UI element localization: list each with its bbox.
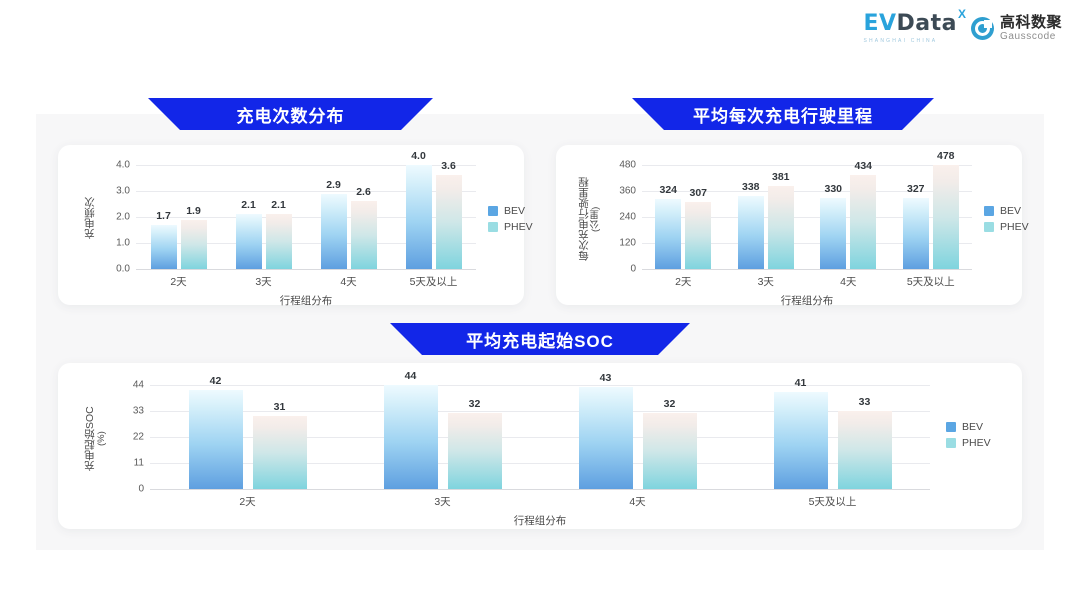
bar-phev[interactable]: 434 [850, 175, 876, 269]
bar-group: 41335天及以上 [735, 385, 930, 489]
bar-value-label: 31 [274, 401, 286, 413]
evdata-wordmark: EVData [863, 13, 957, 35]
legend-item-phev[interactable]: PHEV [984, 221, 1029, 233]
gausscode-logo: 高科数聚 Gausscode [971, 15, 1062, 42]
y-axis-tick: 0 [630, 264, 636, 275]
x-axis-tick: 3天 [434, 494, 450, 509]
bar-phev[interactable]: 31 [253, 416, 307, 489]
legend-label: BEV [962, 421, 983, 433]
bar-pair: 2.92.6 [321, 165, 377, 269]
y-axis-tick: 22 [133, 432, 144, 443]
bar-group: 3243072天 [642, 165, 725, 269]
chart-start-soc: 充电起始SOC(%)01122334442312天44323天43324天413… [58, 363, 1022, 529]
bar-bev[interactable]: 4.0 [406, 165, 432, 269]
x-axis-tick: 5天及以上 [907, 274, 955, 289]
bar-value-label: 478 [937, 150, 955, 162]
gausscode-wordmark: 高科数聚 Gausscode [1000, 15, 1062, 42]
gridline [642, 269, 972, 270]
evdata-logo: EVData X SHANGHAI CHINA [863, 13, 957, 44]
y-axis-unit: (公里) [590, 206, 601, 231]
bar-group: 3304344天 [807, 165, 890, 269]
page-header: EVData X SHANGHAI CHINA 高科数聚 Gausscode [0, 0, 1080, 62]
x-axis-tick: 2天 [675, 274, 691, 289]
x-axis-label: 行程组分布 [150, 513, 930, 528]
plot-area: 0.01.02.03.04.01.71.92天2.12.13天2.92.64天4… [136, 165, 476, 269]
bar-value-label: 434 [854, 160, 872, 172]
bar-value-label: 1.9 [186, 205, 201, 217]
bar-value-label: 2.6 [356, 186, 371, 198]
bar-phev[interactable]: 32 [448, 413, 502, 489]
bar-phev[interactable]: 33 [838, 411, 892, 489]
bar-group: 3383813天 [725, 165, 808, 269]
bar-group: 1.71.92天 [136, 165, 221, 269]
legend-swatch-icon [946, 422, 956, 432]
chart-charging-frequency: 充电频次0.01.02.03.04.01.71.92天2.12.13天2.92.… [58, 145, 524, 305]
legend-item-bev[interactable]: BEV [488, 205, 533, 217]
x-axis-tick: 5天及以上 [809, 494, 857, 509]
x-axis-tick: 2天 [170, 274, 186, 289]
bar-value-label: 4.0 [411, 150, 426, 162]
y-axis-unit: (%) [96, 432, 107, 447]
bar-bev[interactable]: 43 [579, 387, 633, 489]
legend-swatch-icon [488, 222, 498, 232]
x-axis-tick: 4天 [629, 494, 645, 509]
bar-value-label: 32 [469, 398, 481, 410]
bar-bev[interactable]: 2.9 [321, 194, 347, 269]
bar-group: 44323天 [345, 385, 540, 489]
bar-pair: 4.03.6 [406, 165, 462, 269]
legend-item-phev[interactable]: PHEV [946, 437, 991, 449]
bar-pair: 324307 [655, 165, 711, 269]
x-axis-tick: 3天 [758, 274, 774, 289]
gausscode-name-cn: 高科数聚 [1000, 15, 1062, 30]
bar-value-label: 41 [795, 377, 807, 389]
plot-area: 01202403604803243072天3383813天3304344天327… [642, 165, 972, 269]
bar-phev[interactable]: 3.6 [436, 175, 462, 269]
bar-group: 2.92.64天 [306, 165, 391, 269]
legend-label: PHEV [504, 221, 533, 233]
bar-group: 42312天 [150, 385, 345, 489]
bar-pair: 330434 [820, 165, 876, 269]
y-axis-tick: 120 [619, 238, 636, 249]
bar-value-label: 330 [824, 183, 842, 195]
bar-value-label: 2.9 [326, 179, 341, 191]
bar-pair: 4231 [189, 385, 307, 489]
x-axis-label: 行程组分布 [136, 293, 476, 308]
chart-card-charging-frequency: 充电频次0.01.02.03.04.01.71.92天2.12.13天2.92.… [58, 145, 524, 305]
chart-card-range-per-charge: 每次充电行驶里程(公里)01202403604803243072天3383813… [556, 145, 1022, 305]
bar-value-label: 33 [859, 396, 871, 408]
y-axis-tick: 33 [133, 406, 144, 417]
gridline [150, 489, 930, 490]
bar-phev[interactable]: 1.9 [181, 220, 207, 269]
x-axis-tick: 2天 [239, 494, 255, 509]
bar-pair: 2.12.1 [236, 165, 292, 269]
legend-item-bev[interactable]: BEV [946, 421, 991, 433]
y-axis-tick: 1.0 [116, 238, 130, 249]
bar-value-label: 1.7 [156, 210, 171, 222]
evdata-suffix: Data [897, 11, 957, 36]
bar-bev[interactable]: 2.1 [236, 214, 262, 269]
bar-pair: 4332 [579, 385, 697, 489]
bar-groups: 1.71.92天2.12.13天2.92.64天4.03.65天及以上 [136, 165, 476, 269]
evdata-prefix: EV [863, 11, 896, 36]
evdata-subtitle: SHANGHAI CHINA [863, 38, 937, 44]
legend-item-phev[interactable]: PHEV [488, 221, 533, 233]
bar-pair: 4133 [774, 385, 892, 489]
y-axis-label: 充电频次 [84, 173, 96, 263]
bar-phev[interactable]: 381 [768, 186, 794, 269]
bar-group: 2.12.13天 [221, 165, 306, 269]
bar-value-label: 338 [742, 181, 760, 193]
y-axis-tick: 4.0 [116, 160, 130, 171]
bar-pair: 4432 [384, 385, 502, 489]
bar-phev[interactable]: 2.6 [351, 201, 377, 269]
bar-group: 3274785天及以上 [890, 165, 973, 269]
y-axis-label: 充电起始SOC(%) [84, 389, 108, 489]
x-axis-tick: 3天 [255, 274, 271, 289]
y-axis-tick: 0.0 [116, 264, 130, 275]
x-axis-tick: 5天及以上 [410, 274, 458, 289]
bar-bev[interactable]: 44 [384, 385, 438, 489]
gridline [136, 269, 476, 270]
y-axis-tick: 0 [138, 484, 144, 495]
bar-value-label: 42 [210, 375, 222, 387]
bar-phev[interactable]: 2.1 [266, 214, 292, 269]
bar-phev[interactable]: 307 [685, 202, 711, 269]
chart-title-banner-range-per-charge: 平均每次充电行驶里程 [632, 98, 934, 130]
bar-bev[interactable]: 330 [820, 198, 846, 270]
chart-legend: BEVPHEV [488, 205, 533, 233]
x-axis-label: 行程组分布 [642, 293, 972, 308]
bar-groups: 42312天44323天43324天41335天及以上 [150, 385, 930, 489]
bar-value-label: 44 [405, 370, 417, 382]
bar-value-label: 324 [659, 184, 677, 196]
chart-title-banner-start-soc: 平均充电起始SOC [390, 323, 690, 355]
chart-legend: BEVPHEV [984, 205, 1029, 233]
legend-label: BEV [1000, 205, 1021, 217]
bar-bev[interactable]: 1.7 [151, 225, 177, 269]
bar-value-label: 307 [689, 187, 707, 199]
bar-pair: 327478 [903, 165, 959, 269]
bar-bev[interactable]: 324 [655, 199, 681, 269]
legend-label: PHEV [962, 437, 991, 449]
bar-phev[interactable]: 32 [643, 413, 697, 489]
gausscode-mark-icon [971, 17, 994, 40]
bar-value-label: 2.1 [241, 199, 256, 211]
bar-groups: 3243072天3383813天3304344天3274785天及以上 [642, 165, 972, 269]
bar-pair: 1.71.9 [151, 165, 207, 269]
y-axis-tick: 11 [134, 458, 144, 469]
bar-bev[interactable]: 42 [189, 390, 243, 489]
bar-value-label: 32 [664, 398, 676, 410]
chart-range-per-charge: 每次充电行驶里程(公里)01202403604803243072天3383813… [556, 145, 1022, 305]
bar-phev[interactable]: 478 [933, 165, 959, 269]
legend-swatch-icon [984, 206, 994, 216]
bar-bev[interactable]: 338 [738, 196, 764, 269]
legend-label: BEV [504, 205, 525, 217]
legend-swatch-icon [946, 438, 956, 448]
legend-item-bev[interactable]: BEV [984, 205, 1029, 217]
evdata-superscript-icon: X [958, 7, 966, 21]
bar-value-label: 43 [600, 372, 612, 384]
y-axis-tick: 360 [619, 186, 636, 197]
y-axis-tick: 3.0 [116, 186, 130, 197]
legend-swatch-icon [984, 222, 994, 232]
bar-group: 4.03.65天及以上 [391, 165, 476, 269]
x-axis-tick: 4天 [340, 274, 356, 289]
y-axis-tick: 480 [619, 160, 636, 171]
chart-title-banner-charging-frequency: 充电次数分布 [148, 98, 433, 130]
bar-bev[interactable]: 41 [774, 392, 828, 489]
logo-group: EVData X SHANGHAI CHINA 高科数聚 Gausscode [863, 13, 1062, 44]
x-axis-tick: 4天 [840, 274, 856, 289]
y-axis-tick: 44 [133, 380, 144, 391]
y-axis-label: 每次充电行驶里程(公里) [578, 161, 602, 277]
bar-value-label: 327 [907, 183, 925, 195]
y-axis-tick: 240 [619, 212, 636, 223]
bar-value-label: 3.6 [441, 160, 456, 172]
legend-label: PHEV [1000, 221, 1029, 233]
plot-area: 01122334442312天44323天43324天41335天及以上 [150, 385, 930, 489]
gausscode-name-en: Gausscode [1000, 32, 1062, 42]
legend-swatch-icon [488, 206, 498, 216]
bar-value-label: 381 [772, 171, 790, 183]
y-axis-tick: 2.0 [116, 212, 130, 223]
bar-value-label: 2.1 [271, 199, 286, 211]
chart-card-start-soc: 充电起始SOC(%)01122334442312天44323天43324天413… [58, 363, 1022, 529]
bar-pair: 338381 [738, 165, 794, 269]
bar-group: 43324天 [540, 385, 735, 489]
bar-bev[interactable]: 327 [903, 198, 929, 269]
chart-legend: BEVPHEV [946, 421, 991, 449]
